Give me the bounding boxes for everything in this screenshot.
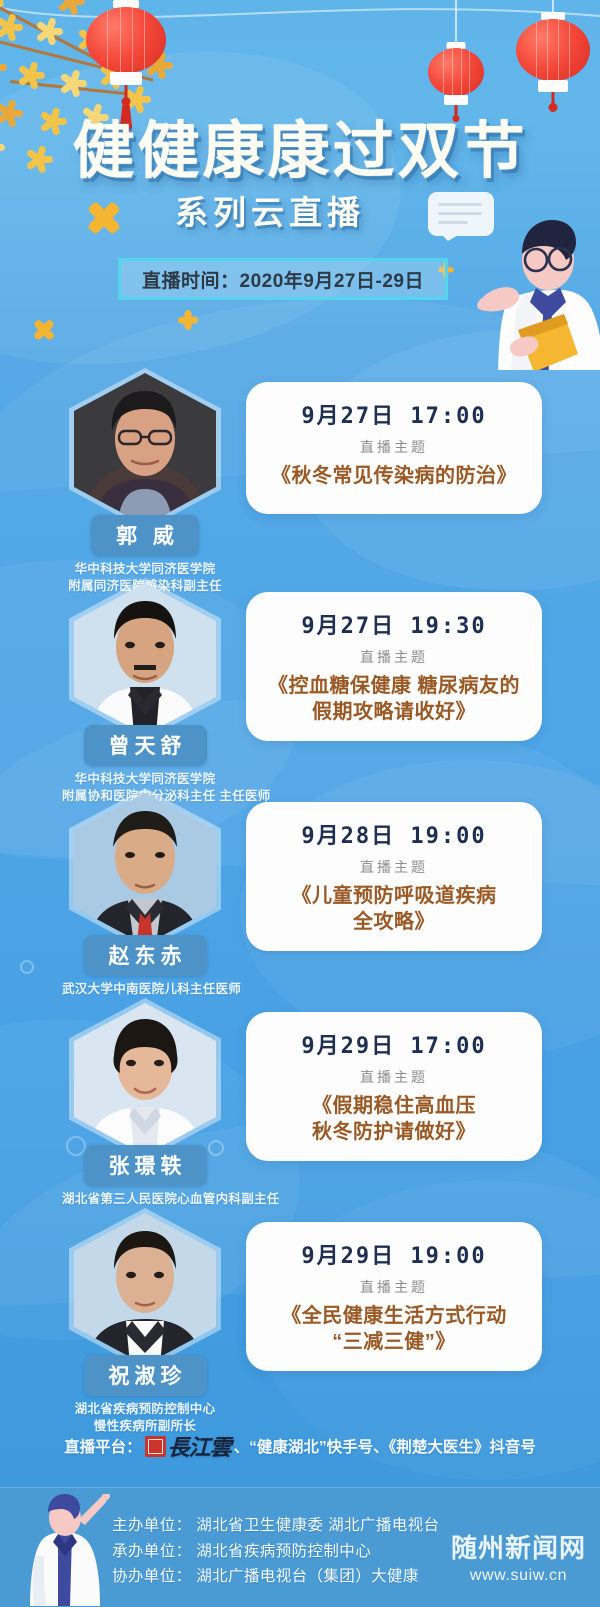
- poster-root: 健健康康过双节 系列云直播 直播时间：2020年9月27日-29日: [0, 0, 600, 1607]
- lantern-icon: [516, 0, 590, 81]
- watermark-name: 随州新闻网: [451, 1536, 586, 1562]
- session-title: 《儿童预防呼吸道疾病 全攻略》: [258, 883, 530, 935]
- speaker-portrait-frame: [69, 998, 221, 1160]
- schedule-list: 郭 威 华中科技大学同济医学院 附属同济医院感染科副主任 9月27日 17:00…: [0, 368, 600, 1423]
- organizer-line: 协办单位： 湖北广播电视台（集团）大健康: [112, 1564, 439, 1590]
- session-title-line: “三减三健”》: [258, 1329, 530, 1355]
- theme-label: 直播主题: [258, 437, 530, 457]
- theme-label: 直播主题: [258, 1277, 530, 1297]
- session-title-line: 全攻略》: [258, 909, 530, 935]
- speaker-affiliation: 武汉大学中南医院儿科主任医师: [62, 981, 228, 998]
- doctor-pointing-illustration: [18, 1494, 114, 1606]
- session-datetime: 9月27日 19:30: [258, 608, 530, 640]
- schedule-row[interactable]: 郭 威 华中科技大学同济医学院 附属同济医院感染科副主任 9月27日 17:00…: [0, 368, 600, 578]
- speaker-name: 祝淑珍: [84, 1355, 207, 1396]
- doctor-illustration: [452, 212, 600, 370]
- affiliation-line: 湖北省疾病预防控制中心: [62, 1401, 228, 1418]
- speaker-portrait-frame: [69, 1208, 221, 1370]
- organizer-line: 承办单位： 湖北省疾病预防控制中心: [112, 1539, 439, 1565]
- session-title: 《控血糖保健康 糖尿病友的 假期攻略请收好》: [258, 673, 530, 725]
- organizer-line: 主办单位： 湖北省卫生健康委 湖北广播电视台: [112, 1513, 439, 1539]
- schedule-row[interactable]: 祝淑珍 湖北省疾病预防控制中心 慢性疾病所副所长 9月29日 19:00 直播主…: [0, 1208, 600, 1423]
- seal-icon: [145, 1436, 166, 1457]
- session-title-line: 《全民健康生活方式行动: [258, 1303, 530, 1329]
- theme-card[interactable]: 9月27日 17:00 直播主题 《秋冬常见传染病的防治》: [246, 382, 542, 514]
- speaker-block: 赵东赤 武汉大学中南医院儿科主任医师: [62, 788, 228, 998]
- affiliation-line: 武汉大学中南医院儿科主任医师: [62, 981, 228, 998]
- session-title-line: 《控血糖保健康 糖尿病友的: [258, 673, 530, 699]
- affiliation-line: 华中科技大学同济医学院: [62, 771, 228, 788]
- speaker-portrait-frame: [69, 578, 221, 740]
- speaker-name: 张璟轶: [84, 1145, 207, 1186]
- changjiangyun-text: 長江雲: [168, 1430, 231, 1462]
- live-time-banner: 直播时间：2020年9月27日-29日: [118, 258, 448, 300]
- session-datetime: 9月29日 19:00: [258, 1238, 530, 1270]
- sparkle-icon: [178, 310, 198, 330]
- organizer-lines: 主办单位： 湖北省卫生健康委 湖北广播电视台 承办单位： 湖北省疾病预防控制中心…: [112, 1513, 439, 1590]
- poster-footer: 主办单位： 湖北省卫生健康委 湖北广播电视台 承办单位： 湖北省疾病预防控制中心…: [0, 1487, 600, 1607]
- schedule-row[interactable]: 赵东赤 武汉大学中南医院儿科主任医师 9月28日 19:00 直播主题 《儿童预…: [0, 788, 600, 998]
- affiliation-line: 华中科技大学同济医学院: [62, 561, 228, 578]
- speaker-portrait-frame: [69, 788, 221, 950]
- schedule-row[interactable]: 张璟轶 湖北省第三人民医院心血管内科副主任 9月29日 17:00 直播主题 《…: [0, 998, 600, 1208]
- watermark-url: www.suiw.cn: [451, 1567, 586, 1585]
- changjiangyun-logo[interactable]: 長江雲: [145, 1430, 231, 1462]
- speaker-block: 张璟轶 湖北省第三人民医院心血管内科副主任: [62, 998, 228, 1208]
- session-title-line: 《假期稳住高血压: [258, 1093, 530, 1119]
- poster-header: 健健康康过双节 系列云直播 直播时间：2020年9月27日-29日: [0, 0, 600, 370]
- live-time-text: 直播时间：2020年9月27日-29日: [142, 266, 424, 293]
- session-title: 《秋冬常见传染病的防治》: [258, 463, 530, 489]
- speaker-block: 郭 威 华中科技大学同济医学院 附属同济医院感染科副主任: [62, 368, 228, 595]
- speaker-name: 赵东赤: [84, 935, 207, 976]
- theme-card[interactable]: 9月27日 19:30 直播主题 《控血糖保健康 糖尿病友的 假期攻略请收好》: [246, 592, 542, 741]
- session-datetime: 9月27日 17:00: [258, 398, 530, 430]
- sparkle-icon: [27, 313, 61, 347]
- session-title-line: 《儿童预防呼吸道疾病: [258, 883, 530, 909]
- theme-label: 直播主题: [258, 1067, 530, 1087]
- theme-card[interactable]: 9月28日 19:00 直播主题 《儿童预防呼吸道疾病 全攻略》: [246, 802, 542, 951]
- affiliation-line: 湖北省第三人民医院心血管内科副主任: [62, 1191, 228, 1208]
- session-title-line: 秋冬防护请做好》: [258, 1119, 530, 1145]
- lantern-icon: [428, 0, 484, 96]
- session-title-line: 《秋冬常见传染病的防治》: [258, 463, 530, 489]
- speaker-name: 郭 威: [91, 515, 199, 556]
- schedule-row[interactable]: 曾天舒 华中科技大学同济医学院 附属协和医院内分泌科主任 主任医师 9月27日 …: [0, 578, 600, 788]
- page-title: 健健康康过双节: [0, 100, 600, 190]
- session-datetime: 9月28日 19:00: [258, 818, 530, 850]
- speaker-block: 曾天舒 华中科技大学同济医学院 附属协和医院内分泌科主任 主任医师: [62, 578, 228, 805]
- platform-suffix: 、“健康湖北”快手号、《荆楚大医生》抖音号: [234, 1435, 536, 1457]
- site-watermark: 随州新闻网 www.suiw.cn: [451, 1536, 586, 1585]
- session-datetime: 9月29日 17:00: [258, 1028, 530, 1060]
- session-title-line: 假期攻略请收好》: [258, 699, 530, 725]
- speaker-name: 曾天舒: [84, 725, 207, 766]
- theme-label: 直播主题: [258, 647, 530, 667]
- broadcast-platform-line: 直播平台： 長江雲 、“健康湖北”快手号、《荆楚大医生》抖音号: [0, 1430, 600, 1462]
- theme-card[interactable]: 9月29日 17:00 直播主题 《假期稳住高血压 秋冬防护请做好》: [246, 1012, 542, 1161]
- theme-label: 直播主题: [258, 857, 530, 877]
- platform-prefix: 直播平台：: [64, 1435, 142, 1457]
- theme-card[interactable]: 9月29日 19:00 直播主题 《全民健康生活方式行动 “三减三健”》: [246, 1222, 542, 1371]
- speaker-block: 祝淑珍 湖北省疾病预防控制中心 慢性疾病所副所长: [62, 1208, 228, 1435]
- speaker-portrait-frame: [69, 368, 221, 530]
- session-title: 《假期稳住高血压 秋冬防护请做好》: [258, 1093, 530, 1145]
- session-title: 《全民健康生活方式行动 “三减三健”》: [258, 1303, 530, 1355]
- lantern-icon: [86, 0, 166, 73]
- speaker-affiliation: 湖北省第三人民医院心血管内科副主任: [62, 1191, 228, 1208]
